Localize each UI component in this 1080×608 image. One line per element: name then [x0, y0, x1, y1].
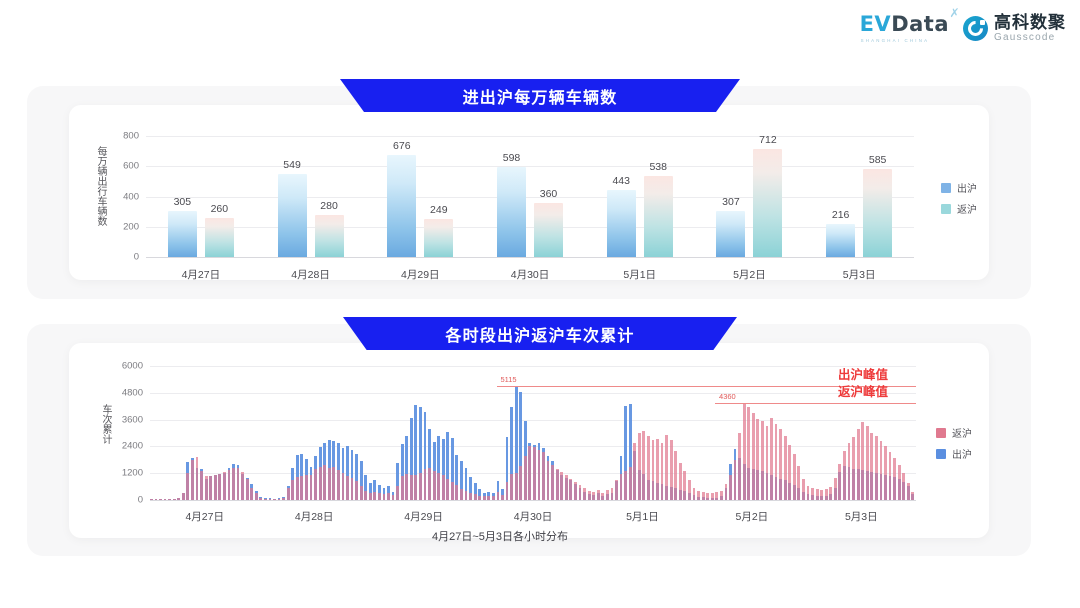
- chart-2-bar-ret: [588, 491, 591, 500]
- chart-1-bar-group: 598360: [497, 136, 563, 257]
- chart-2-bar-ret: [396, 486, 399, 500]
- chart-2-bar-ret: [642, 431, 645, 500]
- chart-2-bar-ret: [414, 475, 417, 500]
- chart-2-bar-ret: [711, 493, 714, 500]
- chart-2-bar-ret: [319, 467, 322, 500]
- chart-2-bar-ret: [693, 488, 696, 500]
- chart-1-bar-返沪: 585: [863, 169, 892, 257]
- chart-2-bar-ret: [615, 480, 618, 500]
- chart-2-bar-ret: [405, 474, 408, 500]
- chart-2-bar-ret: [725, 484, 728, 500]
- chart-2-bar-ret: [656, 439, 659, 500]
- chart-1-bar-value: 216: [832, 209, 850, 221]
- chart-2-bar-ret: [401, 476, 404, 500]
- chart-2-bar-ret: [802, 479, 805, 500]
- chart-2-legend-swatch: [936, 428, 946, 438]
- chart-2-bar-ret: [779, 429, 782, 500]
- chart-1-bar-出沪: 305: [168, 211, 197, 257]
- gausscode-mark-icon: [963, 16, 988, 41]
- chart-2-bar-ret: [164, 499, 167, 500]
- chart-2-bar-ret: [528, 446, 531, 500]
- chart-2-bar-ret: [601, 493, 604, 500]
- chart-2-bar-ret: [729, 475, 732, 500]
- chart-2-bar-ret: [173, 499, 176, 500]
- chart-2-bar-ret: [351, 478, 354, 500]
- chart-1-bar-出沪: 443: [607, 190, 636, 257]
- chart-2-bar-ret: [775, 424, 778, 500]
- chart-2-bar-ret: [383, 494, 386, 500]
- chart-2-bar-ret: [387, 493, 390, 500]
- chart-1-bar-group: 549280: [278, 136, 344, 257]
- chart-2-gridline: [150, 393, 916, 394]
- chart-2-gridline: [150, 420, 916, 421]
- chart-2-bar-ret: [870, 433, 873, 500]
- chart-2-x-tick: 4月29日: [404, 509, 443, 524]
- evdata-logo: EVData ✗ SHANGHAI CHINA: [860, 14, 949, 43]
- chart-2-bar-ret: [328, 468, 331, 500]
- chart-2-y-tick: 2400: [122, 441, 143, 452]
- chart-2-bar-ret: [492, 496, 495, 500]
- chart-2-bar-ret: [209, 476, 212, 500]
- chart-2-bar-ret: [702, 492, 705, 500]
- chart-2-legend-item[interactable]: 返沪: [936, 425, 972, 440]
- chart-1-bar-返沪: 538: [644, 176, 673, 257]
- chart-2-bar-ret: [611, 488, 614, 500]
- chart-2-bar-ret: [323, 465, 326, 500]
- chart-2-gridline: [150, 366, 916, 367]
- chart-1-bar-value: 549: [283, 159, 301, 171]
- chart-2-bar-ret: [483, 496, 486, 500]
- chart-2-bar-ret: [825, 489, 828, 500]
- chart-2-plot-area: 0120024003600480060005115出沪峰值4360返沪峰值4月2…: [150, 366, 916, 500]
- evdata-data-text: Data: [891, 12, 949, 36]
- chart-2-bar-ret: [889, 452, 892, 500]
- chart-1-x-tick: 4月27日: [182, 267, 221, 282]
- chart-2-bar-ret: [866, 426, 869, 500]
- chart-2-peak-label: 返沪峰值: [838, 381, 888, 400]
- chart-2-bar-ret: [497, 492, 500, 500]
- chart-1-bar-group: 305260: [168, 136, 234, 257]
- chart-2-bar-ret: [364, 491, 367, 500]
- chart-2-bar-ret: [565, 475, 568, 500]
- chart-1-x-tick: 4月30日: [511, 267, 550, 282]
- chart-1-bar-value: 676: [393, 140, 411, 152]
- chart-1-bar-出沪: 549: [278, 174, 307, 257]
- chart-2-bar-ret: [907, 483, 910, 500]
- chart-2-bar-ret: [807, 486, 810, 500]
- chart-2-bar-ret: [282, 498, 285, 500]
- chart-1-bar-出沪: 676: [387, 155, 416, 257]
- chart-2-bar-ret: [816, 489, 819, 500]
- chart-1-y-tick: 600: [123, 161, 139, 172]
- chart-2-bar-ret: [342, 473, 345, 500]
- chart-2-bar-ret: [633, 443, 636, 500]
- chart-2-bar-ret: [196, 457, 199, 500]
- chart-2-bar-ret: [214, 475, 217, 500]
- gausscode-en-text: Gausscode: [994, 33, 1066, 43]
- chart-2-bar-ret: [811, 488, 814, 501]
- chart-2-bar-ret: [683, 471, 686, 500]
- chart-2-legend-swatch: [936, 449, 946, 459]
- chart-2-bar-ret: [861, 422, 864, 500]
- chart-2-bar-ret: [697, 491, 700, 500]
- chart-2-bar-ret: [487, 496, 490, 500]
- gausscode-cn-text: 高科数聚: [994, 14, 1066, 31]
- chart-2-bar-ret: [246, 479, 249, 500]
- chart-1-bar-返沪: 360: [534, 203, 563, 257]
- chart-2-bar-ret: [310, 475, 313, 500]
- chart-1-bar-value: 585: [869, 154, 887, 166]
- chart-2-x-tick: 5月3日: [845, 509, 878, 524]
- chart-2-bar-ret: [269, 499, 272, 500]
- chart-1-y-tick: 400: [123, 191, 139, 202]
- chart-2-bar-ret: [273, 499, 276, 500]
- chart-2-bar-ret: [478, 496, 481, 500]
- chart-1-bar-value: 249: [430, 204, 448, 216]
- chart-1-x-tick: 5月2日: [733, 267, 766, 282]
- chart-1-bar-返沪: 280: [315, 215, 344, 257]
- chart-2-bar-ret: [428, 468, 431, 500]
- chart-2-peak-line: [715, 403, 916, 404]
- gausscode-logo: 高科数聚 Gausscode: [963, 14, 1066, 43]
- chart-2-bar-ret: [373, 492, 376, 500]
- chart-2-bar-ret: [638, 433, 641, 500]
- chart-2-bar-ret: [743, 403, 746, 500]
- chart-2-bar-ret: [314, 469, 317, 500]
- chart-2-bar-ret: [332, 467, 335, 500]
- chart-2-bar-ret: [446, 479, 449, 500]
- chart-2-bar-ret: [569, 479, 572, 500]
- chart-2-bar-ret: [159, 499, 162, 500]
- chart-2-bar-ret: [715, 492, 718, 500]
- chart-2-bar-ret: [419, 473, 422, 500]
- chart-2-bar-ret: [410, 475, 413, 500]
- chart-2-bar-ret: [510, 474, 513, 500]
- chart-2-bar-ret: [574, 482, 577, 500]
- chart-2-bar-ret: [360, 486, 363, 500]
- chart-2-bar-ret: [829, 487, 832, 500]
- chart-1-y-axis-title: 每万辆出行车辆数: [93, 146, 108, 226]
- chart-2-legend-label: 返沪: [952, 425, 972, 440]
- chart-2-bar-ret: [898, 465, 901, 500]
- chart-2-bar-ret: [177, 498, 180, 500]
- chart-2-bar-ret: [533, 447, 536, 500]
- chart-1-plot-area: 02004006008003052604月27日5492804月28日67624…: [146, 136, 914, 257]
- chart-1-x-tick: 4月28日: [291, 267, 330, 282]
- chart-1-bar-value: 538: [649, 161, 667, 173]
- chart-1-x-tick: 5月3日: [843, 267, 876, 282]
- chart-2-bar-ret: [186, 473, 189, 500]
- chart-2-bar-ret: [392, 495, 395, 500]
- chart-1-x-tick: 5月1日: [623, 267, 656, 282]
- chart-2-gridline: [150, 500, 916, 501]
- evdata-tagline: SHANGHAI CHINA: [861, 38, 930, 43]
- chart-2-bar-ret: [369, 493, 372, 500]
- chart-2-bar-ret: [592, 492, 595, 500]
- chart-2-bar-ret: [793, 454, 796, 500]
- chart-2-bar-ret: [720, 491, 723, 500]
- chart-2-bar-ret: [738, 433, 741, 500]
- chart-1-gridline: [146, 257, 914, 258]
- chart-2-bar-ret: [538, 450, 541, 500]
- chart-2-y-tick: 3600: [122, 414, 143, 425]
- chart-2-bar-ret: [688, 480, 691, 500]
- chart-2-bar-ret: [228, 470, 231, 500]
- chart-2-bar-ret: [843, 451, 846, 500]
- chart-2-bar-ret: [674, 451, 677, 500]
- chart-2-bar-ret: [624, 471, 627, 500]
- chart-2-bar-ret: [706, 493, 709, 500]
- chart-1-bar-group: 307712: [716, 136, 782, 257]
- chart-1-title-banner: 进出沪每万辆车辆数: [340, 79, 740, 112]
- chart-2-bar-ret: [670, 440, 673, 500]
- chart-2-legend-item[interactable]: 出沪: [936, 446, 972, 461]
- chart-2-legend: 返沪出沪: [936, 425, 972, 467]
- chart-2-bar-ret: [556, 469, 559, 500]
- chart-2-x-tick: 5月1日: [626, 509, 659, 524]
- chart-2-bar-ret: [191, 460, 194, 500]
- chart-2-bar-ret: [200, 471, 203, 500]
- chart-2-bar-ret: [433, 471, 436, 500]
- chart-2-bar-ret: [465, 491, 468, 500]
- chart-2-bar-ret: [424, 469, 427, 500]
- chart-2-bar-ret: [305, 475, 308, 500]
- chart-2-y-tick: 1200: [122, 468, 143, 479]
- evdata-ev-text: EV: [860, 12, 892, 36]
- chart-2-bar-ret: [355, 481, 358, 500]
- chart-2-bar-ret: [182, 493, 185, 500]
- chart-1-bar-value: 305: [174, 196, 192, 208]
- chart-1-bar-value: 360: [540, 188, 558, 200]
- chart-1-bar-返沪: 260: [205, 218, 234, 257]
- chart-1-bar-value: 712: [759, 134, 777, 146]
- chart-2-bar-ret: [820, 490, 823, 500]
- chart-1-bar-出沪: 598: [497, 167, 526, 257]
- chart-2-bar-ret: [620, 474, 623, 500]
- chart-2-bar-ret: [766, 426, 769, 500]
- chart-1-legend-item[interactable]: 返沪: [941, 201, 977, 216]
- chart-2-bar-ret: [501, 495, 504, 500]
- chart-2-peak-value: 4360: [719, 392, 736, 401]
- evdata-x-icon: ✗: [949, 7, 960, 19]
- chart-1-bar-group: 443538: [607, 136, 673, 257]
- evdata-wordmark: EVData ✗: [860, 14, 949, 35]
- chart-2-bar-ret: [300, 476, 303, 500]
- chart-2-bar-ret: [442, 475, 445, 500]
- chart-1-legend-label: 出沪: [957, 180, 977, 195]
- chart-2-bar-ret: [515, 473, 518, 500]
- chart-2-y-axis-title: 车次累计: [98, 404, 113, 444]
- chart-2-y-tick: 0: [138, 495, 143, 506]
- chart-2-bar-ret: [848, 443, 851, 500]
- chart-2-bar-ret: [770, 418, 773, 500]
- chart-1-bar-返沪: 249: [424, 219, 453, 257]
- chart-2-bar-ret: [583, 488, 586, 500]
- chart-2-bar-ret: [259, 498, 262, 500]
- chart-2-bar-ret: [278, 499, 281, 500]
- chart-2-y-tick: 6000: [122, 361, 143, 372]
- chart-2-bar-ret: [551, 465, 554, 500]
- chart-2-bar-ret: [902, 473, 905, 500]
- chart-2-bar-ret: [287, 488, 290, 501]
- chart-2-bar-ret: [346, 476, 349, 500]
- chart-1-bar-value: 307: [722, 196, 740, 208]
- chart-2-bar-ret: [378, 493, 381, 500]
- chart-2-bar-ret: [606, 490, 609, 500]
- chart-2-bar-ret: [797, 466, 800, 500]
- chart-2-bar-ret: [597, 490, 600, 500]
- chart-1-bar-出沪: 216: [826, 224, 855, 257]
- chart-2-bar-ret: [542, 452, 545, 500]
- chart-2-peak-value: 5115: [500, 375, 516, 384]
- chart-2-title-banner: 各时段出沪返沪车次累计: [343, 317, 737, 350]
- chart-2-bar-ret: [875, 436, 878, 500]
- chart-2-bar-ret: [893, 458, 896, 500]
- chart-2-bar-ret: [250, 488, 253, 501]
- chart-1-legend-item[interactable]: 出沪: [941, 180, 977, 195]
- chart-1-y-tick: 0: [134, 252, 139, 263]
- chart-2-bar-ret: [437, 473, 440, 500]
- chart-2-bar-ret: [150, 499, 153, 500]
- chart-2-bar-ret: [560, 472, 563, 500]
- chart-1-legend-swatch: [941, 204, 951, 214]
- chart-2-bar-ret: [756, 419, 759, 500]
- chart-2-bar-ret: [857, 429, 860, 500]
- chart-2-bar-ret: [880, 441, 883, 500]
- chart-2-bar-ret: [205, 476, 208, 500]
- chart-2-bar-ret: [296, 477, 299, 500]
- chart-2-bar-ret: [506, 482, 509, 500]
- chart-2-x-tick: 5月2日: [736, 509, 769, 524]
- chart-1-x-tick: 4月29日: [401, 267, 440, 282]
- chart-2-bar-ret: [291, 480, 294, 500]
- chart-1-y-tick: 200: [123, 221, 139, 232]
- page-header: EVData ✗ SHANGHAI CHINA 高科数聚 Gausscode: [0, 0, 1080, 62]
- chart-1-legend-swatch: [941, 183, 951, 193]
- chart-2-bar-ret: [911, 492, 914, 500]
- chart-2-bar-ret: [469, 493, 472, 500]
- chart-1-bar-出沪: 307: [716, 211, 745, 257]
- chart-2-bar-ret: [237, 468, 240, 500]
- chart-2-bar-ret: [474, 494, 477, 500]
- chart-2-bar-ret: [679, 463, 682, 500]
- chart-2-bar-ret: [337, 470, 340, 500]
- chart-2-bar-ret: [652, 440, 655, 500]
- chart-2-bar-ret: [747, 407, 750, 500]
- chart-2-bar-ret: [734, 460, 737, 500]
- brand-logos: EVData ✗ SHANGHAI CHINA 高科数聚 Gausscode: [860, 14, 1066, 43]
- chart-1-bar-value: 598: [503, 152, 521, 164]
- chart-2-bar-ret: [451, 482, 454, 500]
- chart-2-bar-ret: [788, 445, 791, 500]
- chart-2-bar-ret: [218, 474, 221, 500]
- chart-2-bar-ret: [752, 413, 755, 500]
- chart-1-y-tick: 800: [123, 131, 139, 142]
- chart-2-bar-ret: [223, 472, 226, 500]
- chart-2-bar-ret: [629, 467, 632, 500]
- chart-2-bar-ret: [264, 499, 267, 500]
- chart-2-bar-ret: [460, 489, 463, 500]
- chart-1-legend: 出沪返沪: [941, 180, 977, 222]
- chart-2-bar-ret: [852, 437, 855, 500]
- chart-2-bar-ret: [884, 446, 887, 500]
- chart-2-bar-ret: [834, 478, 837, 500]
- chart-2-caption: 4月27日~5月3日各小时分布: [432, 528, 568, 544]
- chart-2-bar-ret: [761, 421, 764, 500]
- chart-2-bar-ret: [784, 436, 787, 500]
- chart-2-bar-ret: [241, 472, 244, 500]
- chart-2-bar-ret: [524, 456, 527, 500]
- chart-2-bar-ret: [547, 461, 550, 500]
- chart-2-bar-ret: [255, 493, 258, 500]
- chart-1-bar-value: 280: [320, 200, 338, 212]
- chart-2-bar-ret: [155, 499, 158, 500]
- chart-2-bar-ret: [168, 499, 171, 500]
- chart-2-bar-ret: [579, 485, 582, 500]
- chart-2-x-tick: 4月27日: [185, 509, 224, 524]
- chart-2-x-tick: 4月30日: [514, 509, 553, 524]
- chart-1-bar-返沪: 712: [753, 149, 782, 257]
- chart-2-bar-ret: [665, 435, 668, 500]
- chart-2-x-tick: 4月28日: [295, 509, 334, 524]
- chart-2-bar-ret: [661, 443, 664, 500]
- chart-2-bar-ret: [455, 485, 458, 500]
- chart-1-bar-value: 443: [612, 175, 630, 187]
- chart-2-bar-ret: [838, 464, 841, 500]
- chart-2-legend-label: 出沪: [952, 446, 972, 461]
- chart-1-legend-label: 返沪: [957, 201, 977, 216]
- gausscode-wordmark: 高科数聚 Gausscode: [994, 14, 1066, 43]
- chart-2-y-tick: 4800: [122, 387, 143, 398]
- chart-2-bar-ret: [232, 468, 235, 500]
- chart-2-bar-ret: [647, 436, 650, 500]
- chart-1-bar-group: 216585: [826, 136, 892, 257]
- chart-1-bar-value: 260: [211, 203, 229, 215]
- chart-1-bar-group: 676249: [387, 136, 453, 257]
- chart-2-bar-ret: [519, 466, 522, 500]
